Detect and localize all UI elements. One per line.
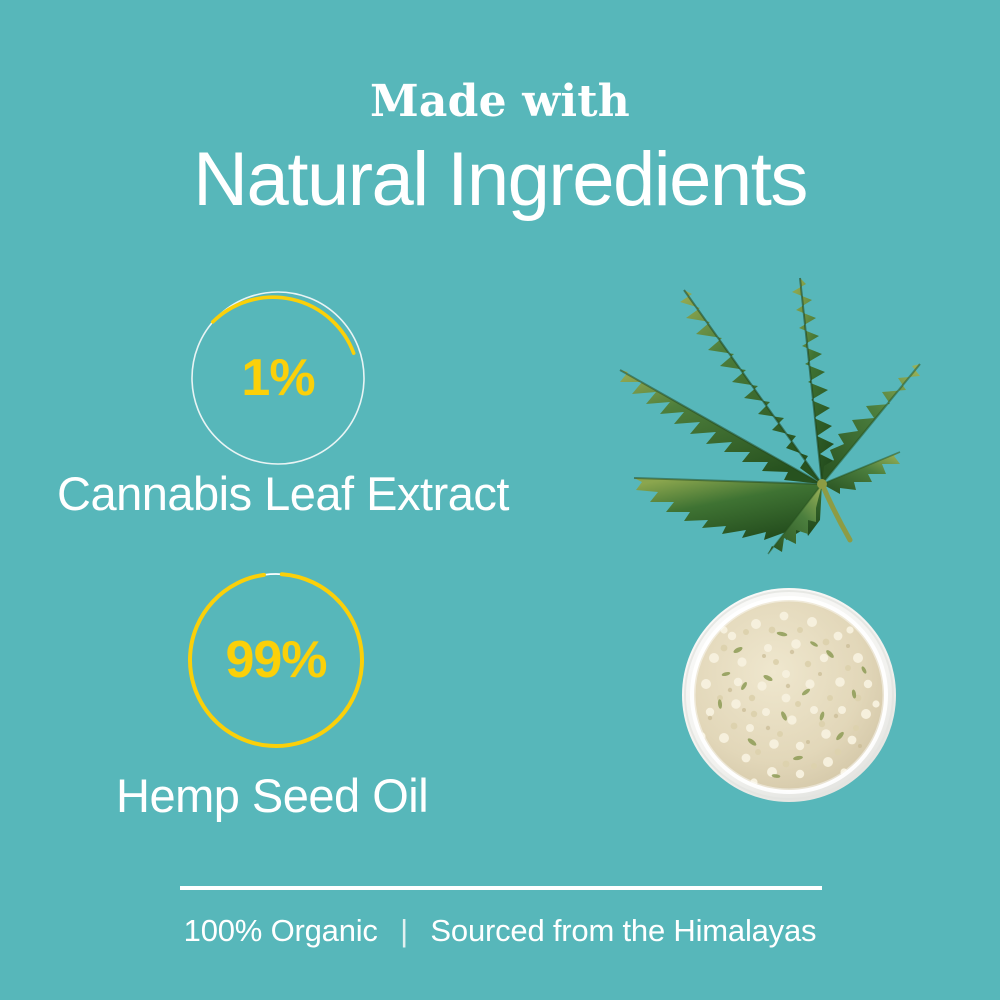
eyebrow-text: Made with (0, 80, 1000, 124)
percentage-ring-hemp-seed-oil: 99% (188, 572, 364, 748)
page-title: Natural Ingredients (0, 140, 1000, 220)
leaflet-top-center (792, 278, 836, 484)
leaf-stem (822, 484, 850, 540)
claim-separator: | (386, 915, 422, 946)
footer-divider (180, 886, 822, 890)
claim-organic: 100% Organic (184, 913, 378, 948)
leaf-blades (620, 278, 920, 554)
hemp-seed-bowl-image (680, 586, 898, 804)
ring-fill-2 (184, 568, 368, 752)
ring-fill-1 (213, 297, 354, 353)
cannabis-leaf-image (600, 272, 948, 562)
ingredient-name-1: Cannabis Leaf Extract (57, 470, 509, 517)
footer-claims: 100% Organic | Sourced from the Himalaya… (0, 915, 1000, 946)
ingredient-name-2: Hemp Seed Oil (116, 772, 428, 819)
percentage-ring-cannabis-leaf-extract: 1% (190, 290, 366, 466)
leaflet-far-left (620, 370, 822, 484)
ingredients-infographic: Made with Natural Ingredients 1% Cannabi… (0, 0, 1000, 1000)
claim-sourcing: Sourced from the Himalayas (430, 913, 816, 948)
